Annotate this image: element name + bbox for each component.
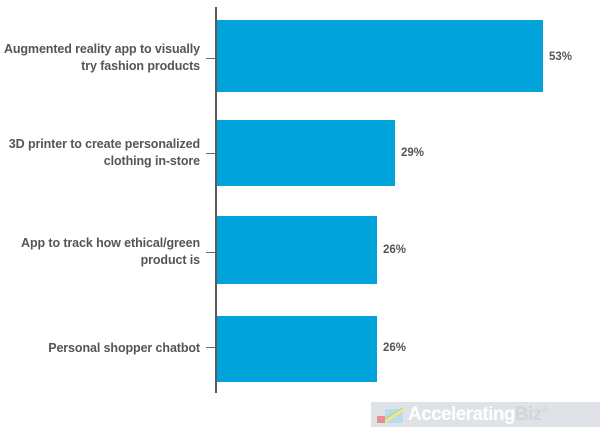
bar[interactable] xyxy=(217,316,377,382)
bar-value-label: 26% xyxy=(383,244,406,256)
bar-value-label: 53% xyxy=(549,51,572,63)
axis-tick xyxy=(206,153,215,154)
bar[interactable] xyxy=(217,120,395,186)
chart-row: Augmented reality app to visually try fa… xyxy=(0,0,600,100)
axis-tick xyxy=(206,58,215,59)
accelerating-biz-logo-icon xyxy=(377,407,403,423)
brand-watermark: AcceleratingBiz® xyxy=(371,402,600,427)
plot-area: Augmented reality app to visually try fa… xyxy=(0,0,600,430)
category-label: Personal shopper chatbot xyxy=(0,340,200,357)
category-label-line: App to track how ethical/green xyxy=(0,235,200,252)
bar-value-label: 29% xyxy=(401,147,424,159)
category-label-line: Augmented reality app to visually xyxy=(0,41,200,58)
bar-chart: Augmented reality app to visually try fa… xyxy=(0,0,600,430)
category-label-line: clothing in-store xyxy=(0,153,200,170)
brand-name-secondary: Biz xyxy=(515,404,542,425)
chart-row: Personal shopper chatbot 26% xyxy=(0,296,600,394)
chart-row: 3D printer to create personalized clothi… xyxy=(0,100,600,198)
bar[interactable] xyxy=(217,216,377,284)
category-label-line: try fashion products xyxy=(0,58,200,75)
axis-tick xyxy=(206,347,215,348)
chart-row: App to track how ethical/green product i… xyxy=(0,198,600,296)
axis-tick xyxy=(206,252,215,253)
category-label: Augmented reality app to visually try fa… xyxy=(0,41,200,75)
bar[interactable] xyxy=(217,20,543,92)
category-label-line: product is xyxy=(0,252,200,269)
brand-name: AcceleratingBiz® xyxy=(408,405,555,424)
category-label: 3D printer to create personalized clothi… xyxy=(0,136,200,170)
bar-value-label: 26% xyxy=(383,342,406,354)
brand-name-primary: Accelerating xyxy=(408,404,515,425)
category-label: App to track how ethical/green product i… xyxy=(0,235,200,269)
category-label-line: Personal shopper chatbot xyxy=(0,340,200,357)
category-label-line: 3D printer to create personalized xyxy=(0,136,200,153)
registered-trademark-icon: ® xyxy=(542,405,548,415)
